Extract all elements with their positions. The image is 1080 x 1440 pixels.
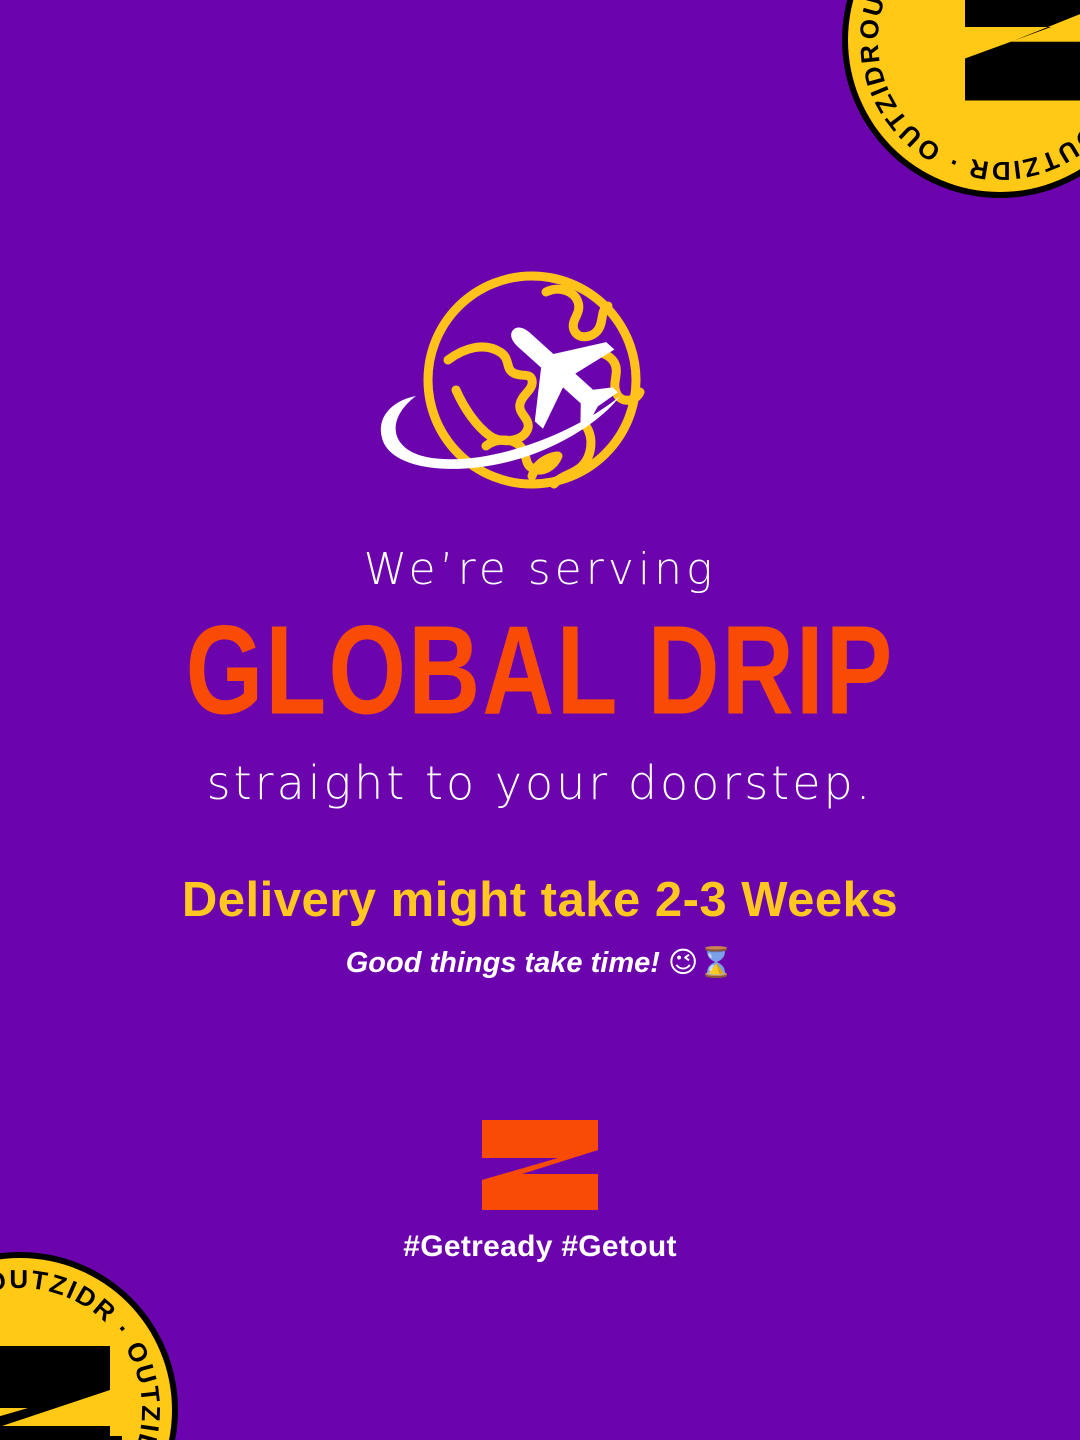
sticker-bottom-left: OUTZIDR · OUTZIDR · OUTZIDR · OUTZIDR · … [0,1250,180,1440]
subnote-emoji: 😉⌛ [668,945,734,979]
copy-block: We’re serving GLOBAL DRIP straight to yo… [0,548,1080,978]
headline-text: GLOBAL DRIP [0,608,1080,735]
sticker-top-right: OUTZIDR · OUTZIDR · OUTZIDR · OUTZIDR · … [840,0,1080,200]
brand-z-logo [478,1118,602,1212]
subnote: Good things take time! 😉⌛ [0,948,1080,978]
hero-illustration [360,268,720,508]
sticker-wordmark: OUTZIDR [0,1436,122,1440]
delivery-notice: Delivery might take 2-3 Weeks [0,876,1080,925]
promo-poster: OUTZIDR · OUTZIDR · OUTZIDR · OUTZIDR · … [0,0,1080,1440]
subnote-text: Good things take time! [346,947,660,979]
subhead-text: straight to your doorstep. [0,760,1080,806]
footer-brand: #Getready #Getout [0,1118,1080,1264]
eyebrow-text: We’re serving [0,548,1080,592]
